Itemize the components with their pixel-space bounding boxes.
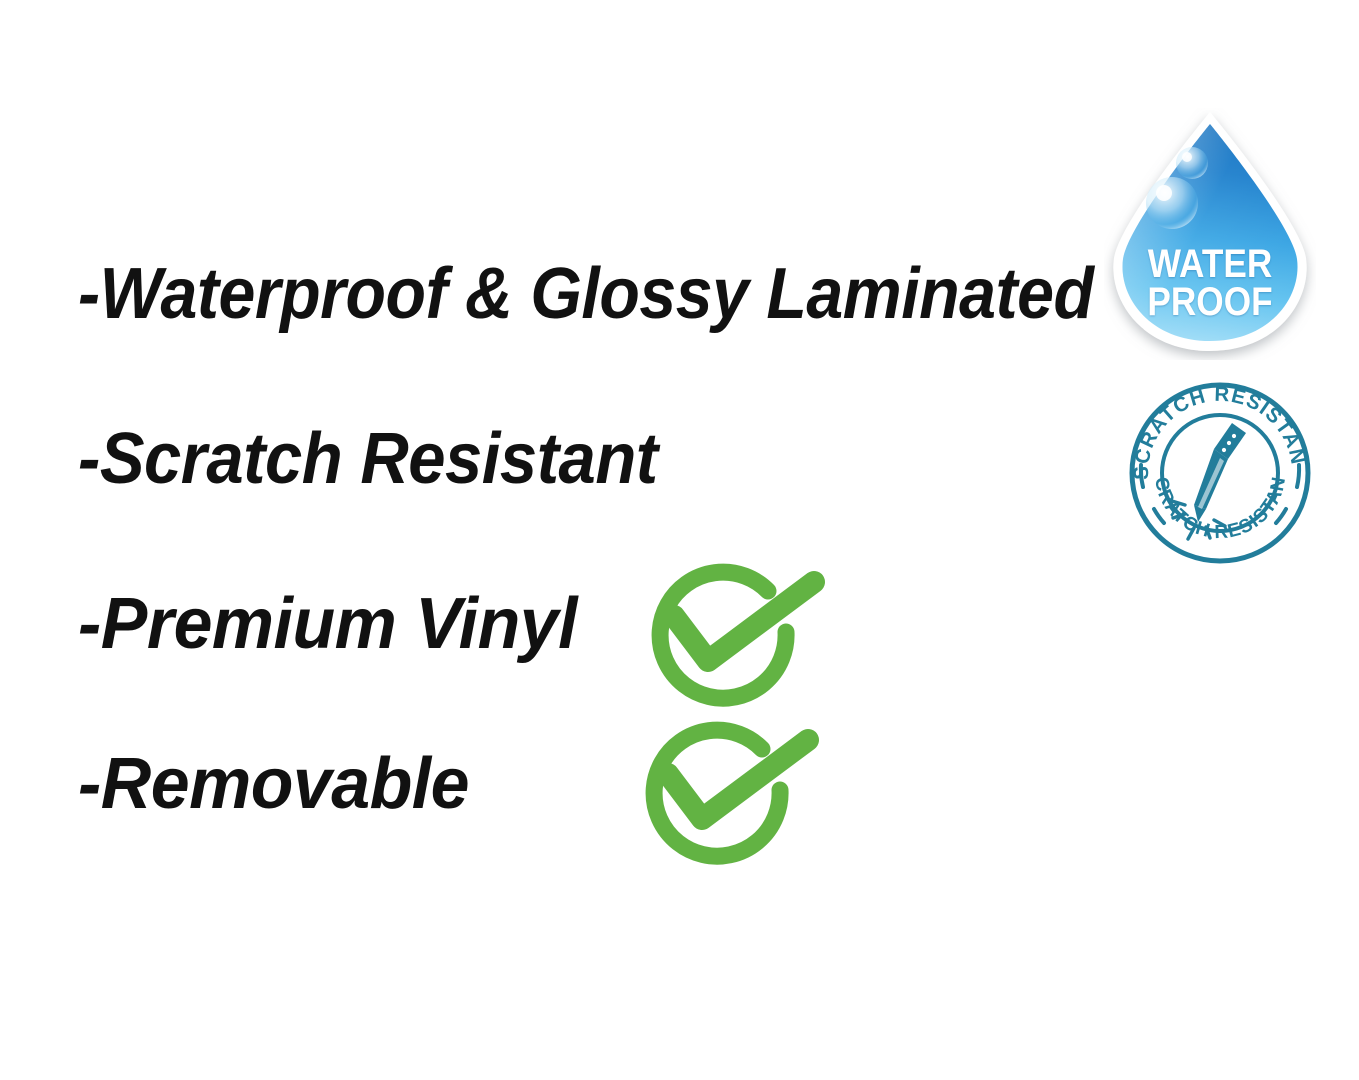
feature-list: -Waterproof & Glossy Laminated -Scratch …	[0, 0, 1100, 1080]
check-circle-premium-vinyl	[640, 560, 826, 710]
water-bubble-small	[1176, 147, 1208, 179]
check-circle-icon	[640, 560, 826, 710]
feature-item-waterproof-glossy-laminated: -Waterproof & Glossy Laminated	[78, 258, 1094, 330]
feature-item-removable: -Removable	[78, 748, 469, 820]
check-circle-icon	[634, 718, 820, 868]
feature-item-premium-vinyl: -Premium Vinyl	[78, 588, 577, 660]
seal-dash-right	[1297, 465, 1299, 487]
water-droplet-icon	[1104, 108, 1316, 360]
infographic-canvas: -Waterproof & Glossy Laminated -Scratch …	[0, 0, 1359, 1080]
knife-seal-icon: SCRATCH RESISTANT SCRATCH RESISTANT	[1128, 381, 1312, 565]
check-circle-removable	[634, 718, 820, 868]
waterproof-badge: WATER PROOF	[1104, 108, 1316, 360]
water-bubble-large	[1146, 177, 1198, 229]
droplet-highlight	[1122, 124, 1297, 341]
scratch-resistant-badge: SCRATCH RESISTANT SCRATCH RESISTANT	[1128, 381, 1312, 565]
feature-item-scratch-resistant: -Scratch Resistant	[78, 423, 658, 495]
